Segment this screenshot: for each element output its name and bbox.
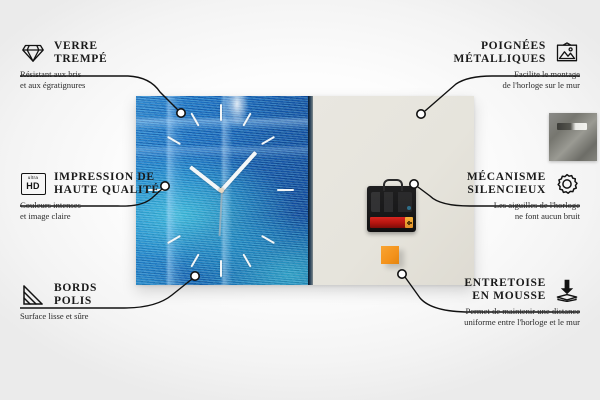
ultra-hd-icon-big-label: HD: [26, 182, 39, 191]
feature-description: Résistant aux bris et aux égratignures: [20, 69, 170, 90]
feature-description: Couleurs intenses et image claire: [20, 200, 180, 221]
clock-tick: [220, 104, 222, 121]
feature-description: Permet de maintenir une distance uniform…: [370, 306, 580, 327]
feature-header: VERRE TREMPÉ: [20, 40, 170, 65]
feature-title: MÉCANISME SILENCIEUX: [467, 171, 546, 196]
feature-verre-trempe: VERRE TREMPÉ Résistant aux bris et aux é…: [20, 40, 170, 90]
feature-bords-polis: BORDS POLIS Surface lisse et sûre: [20, 282, 170, 322]
picture-frame-hanger-icon: [554, 41, 580, 65]
feature-title: POIGNÉES MÉTALLIQUES: [454, 40, 546, 65]
product-feature-infographic: VERRE TREMPÉ Résistant aux bris et aux é…: [0, 0, 600, 400]
feature-impression-haute-qualite: ultra HD IMPRESSION DE HAUTE QUALITÉ Cou…: [20, 171, 180, 221]
gear-icon: [554, 172, 580, 196]
feature-header: BORDS POLIS: [20, 282, 170, 307]
feature-header: ENTRETOISE EN MOUSSE: [370, 277, 580, 302]
feature-description: Les aiguilles de l'horloge ne font aucun…: [390, 200, 580, 221]
feature-header: POIGNÉES MÉTALLIQUES: [400, 40, 580, 65]
feature-entretoise-en-mousse: ENTRETOISE EN MOUSSE Permet de maintenir…: [370, 277, 580, 327]
polished-edges-icon: [20, 283, 46, 307]
feature-header: ultra HD IMPRESSION DE HAUTE QUALITÉ: [20, 171, 180, 196]
feature-header: MÉCANISME SILENCIEUX: [390, 171, 580, 196]
feature-description: Surface lisse et sûre: [20, 311, 170, 322]
feature-poignees-metalliques: POIGNÉES MÉTALLIQUES Facilite le montage…: [400, 40, 580, 90]
feature-title: IMPRESSION DE HAUTE QUALITÉ: [54, 171, 160, 196]
feature-mecanisme-silencieux: MÉCANISME SILENCIEUX Les aiguilles de l'…: [390, 171, 580, 221]
hanger-keyhole-slot: [557, 123, 587, 130]
feature-title: ENTRETOISE EN MOUSSE: [464, 277, 546, 302]
diamond-icon: [20, 41, 46, 65]
clock-tick: [220, 260, 222, 277]
down-arrow-stack-icon: [554, 278, 580, 302]
feature-description: Facilite le montage de l'horloge sur le …: [400, 69, 580, 90]
clock-tick: [277, 189, 294, 191]
feature-title: BORDS POLIS: [54, 282, 97, 307]
foam-spacer: [381, 246, 399, 264]
clock-hands-hub: [219, 188, 224, 193]
metal-hanger-plate: [549, 113, 597, 161]
ultra-hd-icon: ultra HD: [20, 172, 46, 196]
feature-title: VERRE TREMPÉ: [54, 40, 107, 65]
